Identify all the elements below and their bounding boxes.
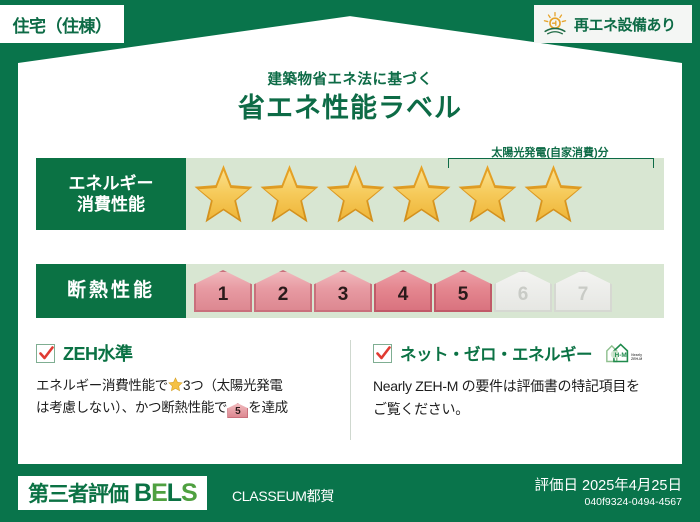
inline-house-level: 5: [227, 403, 248, 418]
zeh-text-part2: は考慮しない）、かつ断熱性能で: [36, 400, 227, 415]
insulation-level-3: 3: [314, 270, 372, 312]
bels-wordmark: BELS: [134, 479, 197, 508]
building-type-tab: 住宅（住棟）: [0, 5, 124, 43]
evaluation-id: 040f9324-0494-4567: [584, 496, 682, 508]
star-icon: [192, 163, 255, 225]
label-title: 省エネ性能ラベル: [0, 86, 700, 125]
renewable-equipment-badge: 再エネ設備あり: [534, 5, 692, 43]
insulation-level-5: 5: [434, 270, 492, 312]
energy-performance-header: エネルギー 消費性能: [36, 158, 186, 230]
check-icon: [38, 345, 55, 362]
nearly-zehm-logo-icon: H-M Nearly ZEH-M: [604, 340, 648, 366]
star-icon: [390, 163, 453, 225]
zehm-logo-text: H-M: [615, 352, 627, 359]
bels-logo-plate: 第三者評価 BELS: [18, 476, 207, 510]
zeh-standard-title: ZEH水準: [63, 340, 133, 366]
svg-text:Nearly: Nearly: [631, 353, 642, 357]
criteria-section: ZEH水準 エネルギー消費性能で3つ（太陽光発電は考慮しない）、かつ断熱性能で5…: [36, 340, 664, 440]
svg-text:ZEH-M: ZEH-M: [631, 357, 642, 361]
net-zero-title: ネット・ゼロ・エネルギー: [400, 341, 592, 365]
criteria-zeh-standard: ZEH水準 エネルギー消費性能で3つ（太陽光発電は考慮しない）、かつ断熱性能で5…: [36, 340, 350, 440]
bels-energy-label: 住宅（住棟） 再エネ設備あり 建築物省エネ法に基づく 省エネ性能ラベル パナス …: [0, 0, 700, 522]
zeh-standard-description: エネルギー消費性能で3つ（太陽光発電は考慮しない）、かつ断熱性能で5を達成: [36, 375, 336, 420]
bels-letter-b: B: [134, 479, 151, 507]
energy-header-line2: 消費性能: [77, 194, 145, 215]
star-icon: [522, 163, 585, 225]
solar-generation-bracket: [448, 158, 654, 168]
building-name-label: CLASSEUM都賀: [232, 486, 334, 506]
renewable-badge-label: 再エネ設備あり: [574, 14, 676, 35]
energy-performance-row: エネルギー 消費性能 太陽光発電(自家消費)分: [36, 158, 664, 230]
third-party-eval-label: 第三者評価: [28, 478, 128, 508]
bels-letter-s: S: [181, 479, 197, 507]
insulation-level-6: 6: [494, 270, 552, 312]
evaluation-date: 評価日 2025年4月25日: [535, 474, 682, 495]
zeh-text-stars: 3つ（太陽光発電: [183, 378, 283, 393]
insulation-level-7: 7: [554, 270, 612, 312]
energy-header-line1: エネルギー: [69, 173, 154, 194]
bels-letter-l: L: [167, 479, 181, 507]
star-icon: [258, 163, 321, 225]
insulation-performance-row: 断熱性能 1234567: [36, 264, 664, 318]
insulation-performance-body: 1234567: [186, 264, 664, 318]
zeh-standard-checkbox: [36, 344, 55, 363]
label-footer: 第三者評価 BELS CLASSEUM都賀 評価日 2025年4月25日 040…: [0, 464, 700, 522]
energy-performance-body: 太陽光発電(自家消費)分: [186, 158, 664, 230]
bels-letter-e: E: [151, 479, 167, 507]
building-type-label: 住宅（住棟）: [13, 12, 112, 37]
inline-star-icon: [168, 377, 183, 392]
insulation-level-2: 2: [254, 270, 312, 312]
insulation-performance-header: 断熱性能: [36, 264, 186, 318]
net-zero-description: Nearly ZEH-M の要件は評価書の特記項目をご覧ください。: [373, 375, 650, 421]
zeh-text-part1: エネルギー消費性能で: [36, 378, 168, 393]
insulation-header-label: 断熱性能: [67, 279, 155, 303]
insulation-level-1: 1: [194, 270, 252, 312]
star-icon: [456, 163, 519, 225]
star-icon: [324, 163, 387, 225]
solar-sun-icon: [542, 11, 568, 37]
zeh-text-part3: を達成: [248, 400, 288, 415]
energy-star-rating: [186, 163, 585, 225]
criteria-net-zero-energy: ネット・ゼロ・エネルギー H-M Nearly ZEH-M Nearly ZEH…: [350, 340, 664, 440]
insulation-level-4: 4: [374, 270, 432, 312]
zeh-standard-header: ZEH水準: [36, 340, 336, 366]
check-icon: [375, 345, 392, 362]
insulation-level-scale: 1234567: [186, 270, 612, 312]
net-zero-checkbox: [373, 344, 392, 363]
net-zero-header: ネット・ゼロ・エネルギー H-M Nearly ZEH-M: [373, 340, 650, 366]
